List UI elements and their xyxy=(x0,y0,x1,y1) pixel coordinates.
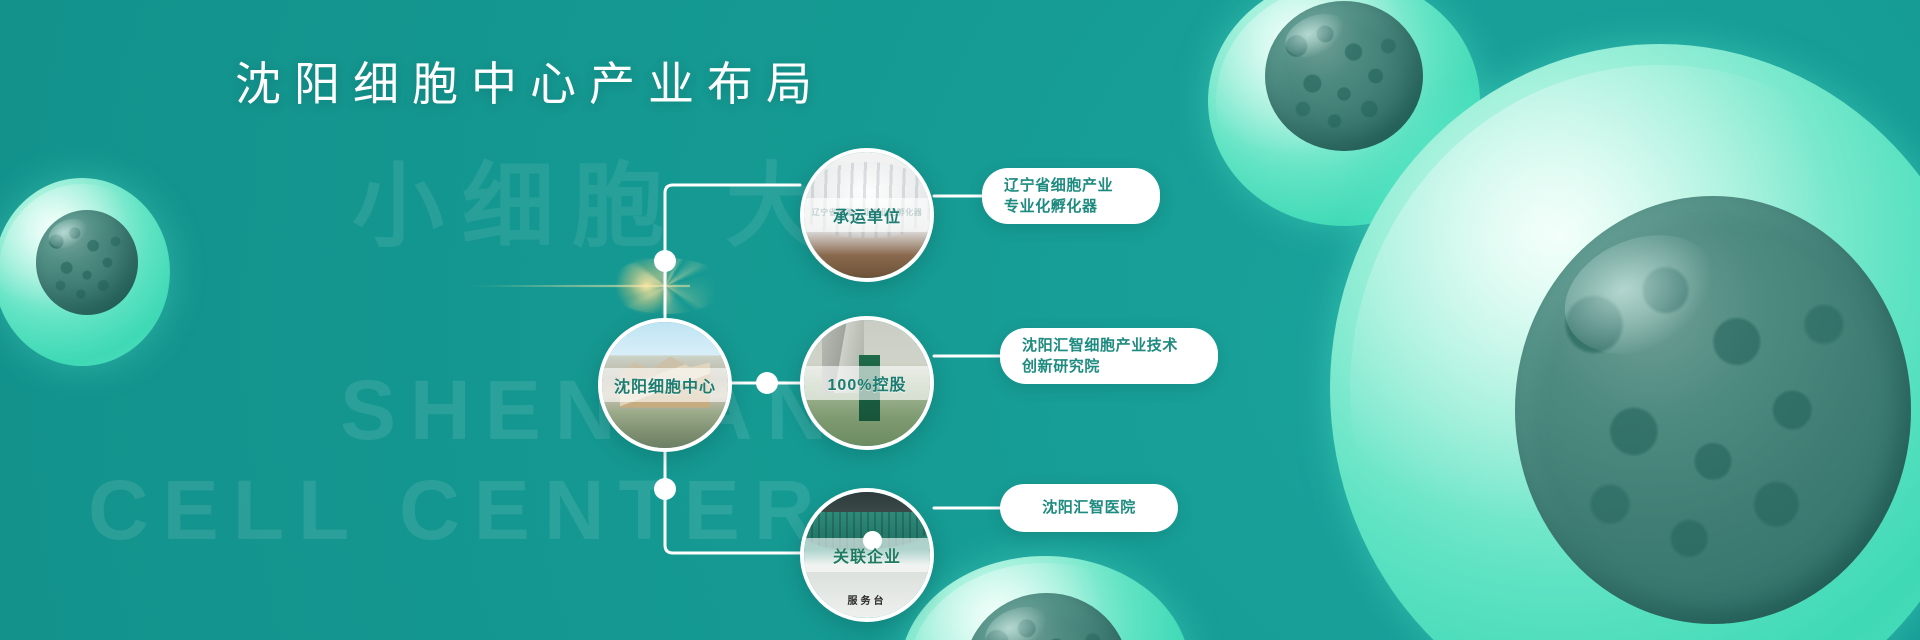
node-mid-caption: 100%控股 xyxy=(804,366,930,400)
label-pill-research-institute[interactable]: 沈阳汇智细胞产业技术 创新研究院 xyxy=(1000,328,1218,384)
node-full-ownership[interactable]: 100%控股 xyxy=(800,316,934,450)
connector-bottom-elbow xyxy=(665,498,800,553)
junction-dot-middle xyxy=(756,372,778,394)
node-top-caption: 承运单位 xyxy=(804,198,930,232)
pill-mid-line1: 沈阳汇智细胞产业技术 xyxy=(1022,335,1178,356)
pill-top-line1: 辽宁省细胞产业 xyxy=(1004,175,1113,196)
connector-top-elbow xyxy=(665,185,800,252)
junction-dot-top xyxy=(654,250,676,272)
node-carrier-unit[interactable]: 辽宁省细胞产业专业化孵化器 承运单位 xyxy=(800,148,934,282)
node-affiliated-enterprise[interactable]: 关联企业 服务台 xyxy=(800,488,934,622)
node-bottom-caption: 关联企业 xyxy=(804,538,930,572)
junction-dot-bottom xyxy=(654,478,676,500)
label-pill-incubator[interactable]: 辽宁省细胞产业 专业化孵化器 xyxy=(982,168,1160,224)
node-center-caption: 沈阳细胞中心 xyxy=(602,368,728,402)
pill-bottom-line1: 沈阳汇智医院 xyxy=(1042,497,1136,518)
pill-top-line2: 专业化孵化器 xyxy=(1004,196,1113,217)
connector-lines xyxy=(0,0,1920,640)
node-center-shenyang-cell-center[interactable]: 沈阳细胞中心 xyxy=(598,318,732,452)
node-bottom-photo-overlay-text: 服务台 xyxy=(804,592,930,607)
banner-root: 小细胞 大 SHENYANG CELL CENTER 沈阳细胞中心产业布局 xyxy=(0,0,1920,640)
label-pill-hospital[interactable]: 沈阳汇智医院 xyxy=(1000,484,1178,532)
pill-mid-line2: 创新研究院 xyxy=(1022,356,1178,377)
